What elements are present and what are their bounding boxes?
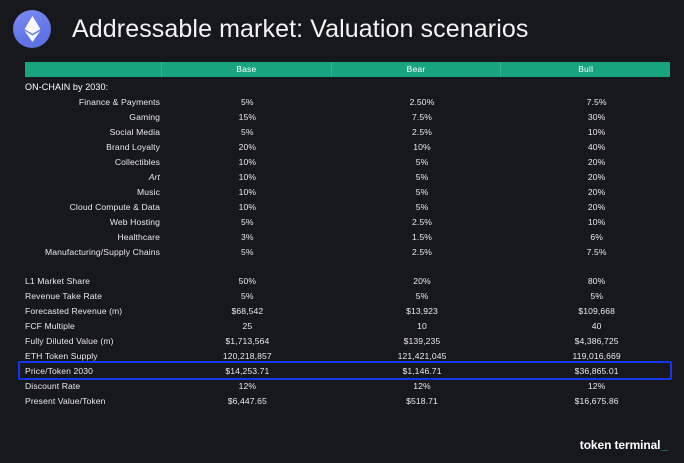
cell-base: $6,447.65	[160, 396, 335, 406]
page-title: Addressable market: Valuation scenarios	[72, 15, 528, 44]
row-label: Brand Loyalty	[0, 142, 160, 152]
cell-bear: 7.5%	[335, 112, 510, 122]
row-label: Healthcare	[0, 232, 160, 242]
section-divider-gap	[0, 259, 684, 273]
row-label: Fully Diluted Value (m)	[0, 336, 160, 346]
cell-bear: 121,421,045	[335, 351, 510, 361]
cell-bear: 2.5%	[335, 127, 510, 137]
table-row: Manufacturing/Supply Chains5%2.5%7.5%	[0, 244, 684, 259]
cell-bull: 10%	[509, 127, 684, 137]
cell-bull: $16,675.86	[509, 396, 684, 406]
cell-bear: 5%	[335, 157, 510, 167]
cell-bull: 40%	[509, 142, 684, 152]
cell-base: 25	[160, 321, 335, 331]
cell-base: 50%	[160, 276, 335, 286]
table-row: Music10%5%20%	[0, 184, 684, 199]
cell-bull: 80%	[509, 276, 684, 286]
cell-bull: 10%	[509, 217, 684, 227]
cell-bear: 20%	[335, 276, 510, 286]
cell-bull: 119,016,669	[509, 351, 684, 361]
column-header-base: Base	[161, 62, 331, 77]
cell-bull: $109,668	[509, 306, 684, 316]
valuation-table: ON-CHAIN by 2030: Finance & Payments5%2.…	[0, 81, 684, 408]
cell-base: 12%	[160, 381, 335, 391]
cell-base: $68,542	[160, 306, 335, 316]
slide-header: Addressable market: Valuation scenarios	[0, 0, 684, 58]
row-label: Price/Token 2030	[0, 366, 160, 376]
cell-bull: 12%	[509, 381, 684, 391]
cell-bear: 1.5%	[335, 232, 510, 242]
cell-bear: 5%	[335, 291, 510, 301]
cell-bear: 10%	[335, 142, 510, 152]
row-label: L1 Market Share	[0, 276, 160, 286]
row-label: ETH Token Supply	[0, 351, 160, 361]
row-label: Forecasted Revenue (m)	[0, 306, 160, 316]
cell-base: 5%	[160, 247, 335, 257]
row-label: Cloud Compute & Data	[0, 202, 160, 212]
row-label: Gaming	[0, 112, 160, 122]
cell-bear: $518.71	[335, 396, 510, 406]
cell-bear: 2.5%	[335, 217, 510, 227]
table-row-highlighted: Price/Token 2030$14,253.71$1,146.71$36,8…	[0, 363, 684, 378]
cell-bear: 10	[335, 321, 510, 331]
cell-bull: 7.5%	[509, 247, 684, 257]
slide-root: { "header": { "logo_icon": "ethereum-log…	[0, 0, 684, 463]
cell-bull: 40	[509, 321, 684, 331]
table-row: FCF Multiple251040	[0, 318, 684, 333]
column-header-bull: Bull	[500, 62, 670, 77]
cell-bull: 30%	[509, 112, 684, 122]
cell-bull: 6%	[509, 232, 684, 242]
table-row: Art10%5%20%	[0, 169, 684, 184]
cell-bear: $139,235	[335, 336, 510, 346]
cell-bear: 2.5%	[335, 247, 510, 257]
cell-base: $1,713,564	[160, 336, 335, 346]
brand-wordmark: token terminal	[580, 438, 661, 452]
cell-bull: 7.5%	[509, 97, 684, 107]
row-label: Finance & Payments	[0, 97, 160, 107]
cell-base: 5%	[160, 127, 335, 137]
row-label: Manufacturing/Supply Chains	[0, 247, 160, 257]
table-row: Forecasted Revenue (m)$68,542$13,923$109…	[0, 303, 684, 318]
cell-bear: 2.50%	[335, 97, 510, 107]
table-row: Collectibles10%5%20%	[0, 154, 684, 169]
cell-bear: 12%	[335, 381, 510, 391]
table-row: L1 Market Share50%20%80%	[0, 273, 684, 288]
cell-bear: 5%	[335, 187, 510, 197]
cell-bull: 20%	[509, 157, 684, 167]
cell-bull: 20%	[509, 187, 684, 197]
table-row: Healthcare3%1.5%6%	[0, 229, 684, 244]
cell-bull: 20%	[509, 202, 684, 212]
table-row: ETH Token Supply120,218,857121,421,04511…	[0, 348, 684, 363]
cell-bull: 5%	[509, 291, 684, 301]
column-header-bear: Bear	[331, 62, 501, 77]
cell-base: 10%	[160, 202, 335, 212]
token-terminal-logo: token terminal _	[580, 438, 668, 452]
valuation-row-group: L1 Market Share50%20%80%Revenue Take Rat…	[0, 273, 684, 408]
cell-base: 10%	[160, 187, 335, 197]
table-row: Present Value/Token$6,447.65$518.71$16,6…	[0, 393, 684, 408]
row-label: Social Media	[0, 127, 160, 137]
cell-bear: 5%	[335, 202, 510, 212]
table-row: Gaming15%7.5%30%	[0, 109, 684, 124]
cell-base: 20%	[160, 142, 335, 152]
cell-base: 3%	[160, 232, 335, 242]
row-label: Web Hosting	[0, 217, 160, 227]
cell-base: 10%	[160, 172, 335, 182]
cell-bull: 20%	[509, 172, 684, 182]
table-row: Brand Loyalty20%10%40%	[0, 139, 684, 154]
cell-bear: 5%	[335, 172, 510, 182]
table-row: Finance & Payments5%2.50%7.5%	[0, 94, 684, 109]
cell-base: 15%	[160, 112, 335, 122]
cell-base: 120,218,857	[160, 351, 335, 361]
row-label: Present Value/Token	[0, 396, 160, 406]
cell-bull: $4,386,725	[509, 336, 684, 346]
cell-bull: $36,865.01	[509, 366, 684, 376]
row-label: Collectibles	[0, 157, 160, 167]
table-row: Social Media5%2.5%10%	[0, 124, 684, 139]
section-label-onchain: ON-CHAIN by 2030:	[0, 81, 684, 94]
row-label: Discount Rate	[0, 381, 160, 391]
table-row: Revenue Take Rate5%5%5%	[0, 288, 684, 303]
cell-base: 5%	[160, 291, 335, 301]
cell-base: 5%	[160, 217, 335, 227]
scenario-header-bar: Base Bear Bull	[25, 62, 670, 77]
brand-cursor-icon: _	[661, 438, 668, 452]
ethereum-logo-icon	[13, 10, 51, 48]
table-row: Fully Diluted Value (m)$1,713,564$139,23…	[0, 333, 684, 348]
table-row: Discount Rate12%12%12%	[0, 378, 684, 393]
row-label: Art	[0, 172, 160, 182]
cell-base: $14,253.71	[160, 366, 335, 376]
row-label: FCF Multiple	[0, 321, 160, 331]
cell-bear: $13,923	[335, 306, 510, 316]
table-row: Cloud Compute & Data10%5%20%	[0, 199, 684, 214]
row-label: Revenue Take Rate	[0, 291, 160, 301]
onchain-row-group: Finance & Payments5%2.50%7.5%Gaming15%7.…	[0, 94, 684, 259]
cell-base: 10%	[160, 157, 335, 167]
cell-base: 5%	[160, 97, 335, 107]
table-row: Web Hosting5%2.5%10%	[0, 214, 684, 229]
row-label: Music	[0, 187, 160, 197]
cell-bear: $1,146.71	[335, 366, 510, 376]
